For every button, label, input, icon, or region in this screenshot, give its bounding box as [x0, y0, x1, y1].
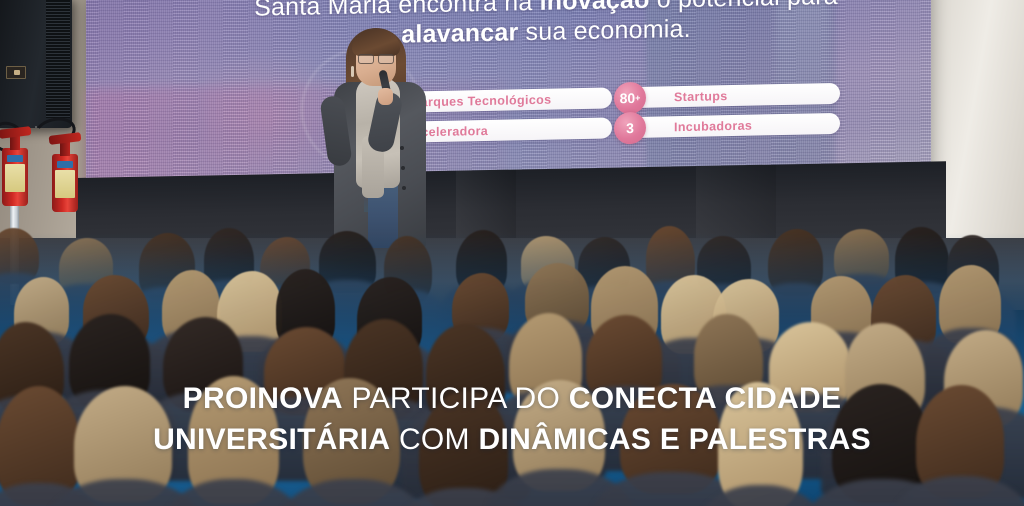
- pa-speaker-grille: [46, 0, 70, 118]
- stat-badge-incubadoras: 3: [614, 112, 646, 145]
- headline-bold-universitaria: UNIVERSITÁRIA: [153, 423, 390, 456]
- stat-badge-startups-value: 80: [620, 90, 636, 106]
- pa-speaker-badge: [6, 66, 26, 79]
- stat-badge-incubadoras-value: 3: [626, 120, 634, 136]
- headline-bold-proinova: PROINOVA: [183, 382, 343, 415]
- presenter-hand: [378, 88, 393, 105]
- slide-title-part3: sua economia.: [518, 15, 690, 46]
- stat-badge-startups: 80+: [614, 82, 646, 115]
- banner-headline: PROINOVA PARTICIPA DO CONECTA CIDADE UNI…: [0, 378, 1024, 460]
- coat-button: [401, 166, 405, 170]
- stat-pill-startups: 80+ Startups: [630, 83, 840, 108]
- coat-button: [402, 186, 406, 190]
- presenter-fringe: [352, 30, 400, 56]
- audience: [0, 225, 1024, 506]
- slide-title-part2: o potencial para: [650, 0, 838, 14]
- stat-pill-incubadoras: 3 Incubadoras: [630, 113, 840, 138]
- slide-content: Santa Maria encontra na inovação o poten…: [86, 0, 931, 189]
- stat-label-incubadoras: Incubadoras: [674, 118, 752, 134]
- slide-title: Santa Maria encontra na inovação o poten…: [196, 0, 896, 54]
- headline-light-1: PARTICIPA DO: [343, 382, 569, 415]
- headline-bold-conecta: CONECTA CIDADE: [569, 382, 842, 415]
- headline-line-2: UNIVERSITÁRIA COM DINÂMICAS E PALESTRAS: [0, 419, 1024, 460]
- headline-light-2: COM: [390, 423, 478, 456]
- headline-line-1: PROINOVA PARTICIPA DO CONECTA CIDADE: [0, 378, 1024, 419]
- presenter-glasses: [358, 54, 394, 62]
- slide-stat-row-2: Aceleradora 3 Incubadoras: [382, 113, 840, 143]
- extinguisher-label: [5, 164, 25, 192]
- coat-button: [400, 146, 404, 150]
- extinguisher-label: [55, 170, 75, 198]
- presenter-speaker: [318, 26, 436, 248]
- presenter-earring: [351, 66, 354, 77]
- headline-bold-dinamicas: DINÂMICAS E PALESTRAS: [478, 423, 870, 456]
- stat-badge-startups-sup: +: [635, 93, 640, 103]
- slide-title-bold1: inovação: [540, 0, 650, 16]
- slide-stat-row-1: Parques Tecnológicos 80+ Startups: [382, 83, 840, 113]
- stat-label-startups: Startups: [674, 89, 728, 104]
- event-banner: Santa Maria encontra na inovação o poten…: [0, 0, 1024, 506]
- audience-member-shoulders: [160, 479, 307, 506]
